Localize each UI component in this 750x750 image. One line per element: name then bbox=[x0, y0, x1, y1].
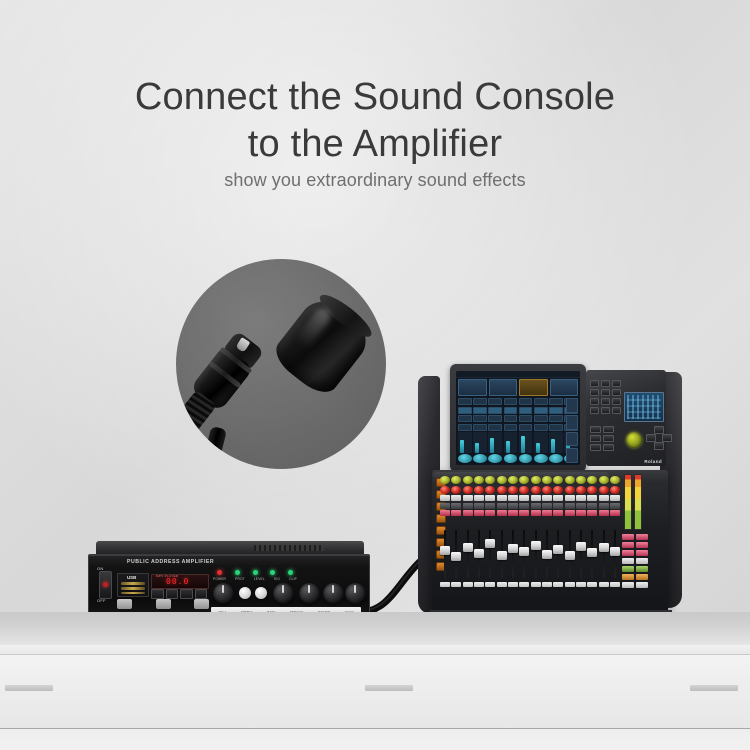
channel-mute-button[interactable] bbox=[440, 503, 450, 509]
channel-name-label bbox=[576, 582, 586, 587]
usb-label: USB bbox=[127, 575, 136, 580]
master-button[interactable] bbox=[636, 582, 648, 588]
console-lcd-screen[interactable] bbox=[624, 392, 664, 422]
knob-mp3-aux[interactable] bbox=[323, 583, 344, 604]
app-side-button[interactable] bbox=[566, 415, 578, 430]
app-channel-strip bbox=[534, 398, 548, 463]
dpad-up-button[interactable] bbox=[654, 426, 664, 434]
app-channel-fader[interactable] bbox=[519, 432, 533, 453]
channel-aux-knob[interactable] bbox=[565, 486, 575, 494]
channel-name-label bbox=[497, 582, 507, 587]
function-button[interactable] bbox=[601, 380, 610, 387]
app-channel-knob[interactable] bbox=[549, 454, 563, 463]
channel-aux-knob[interactable] bbox=[542, 486, 552, 494]
fader-cap[interactable] bbox=[542, 550, 552, 559]
channel-mute-button[interactable] bbox=[497, 503, 507, 509]
headline-line-1: Connect the Sound Console bbox=[0, 74, 750, 121]
channel-gain-knob[interactable] bbox=[497, 476, 507, 484]
channel-select-button[interactable] bbox=[599, 495, 609, 501]
channel-aux-knob[interactable] bbox=[508, 486, 518, 494]
function-button[interactable] bbox=[612, 398, 621, 405]
headline-line-2: to the Amplifier bbox=[0, 121, 750, 168]
app-channel-cell[interactable] bbox=[549, 398, 563, 405]
digital-mixing-console: Roland bbox=[418, 358, 678, 628]
function-button[interactable] bbox=[601, 407, 610, 414]
channel-mute-button[interactable] bbox=[451, 503, 461, 509]
app-channel-fader[interactable] bbox=[458, 432, 472, 453]
channel-gain-knob[interactable] bbox=[485, 476, 495, 484]
channel-mute-button[interactable] bbox=[576, 503, 586, 509]
channel-aux-knob[interactable] bbox=[576, 486, 586, 494]
channel-solo-button[interactable] bbox=[440, 510, 450, 516]
function-button[interactable] bbox=[601, 398, 610, 405]
channel-fader[interactable] bbox=[531, 530, 541, 582]
channel-mute-button[interactable] bbox=[531, 503, 541, 509]
app-channel-knob[interactable] bbox=[458, 454, 472, 463]
knob-master[interactable] bbox=[345, 583, 366, 604]
fader-cap[interactable] bbox=[565, 551, 575, 560]
channel-aux-knob[interactable] bbox=[610, 486, 620, 494]
app-channel-cell[interactable] bbox=[473, 398, 487, 405]
usb-port[interactable] bbox=[121, 582, 145, 585]
channel-select-button[interactable] bbox=[531, 495, 541, 501]
channel-fader[interactable] bbox=[599, 530, 609, 582]
page-subtitle: show you extraordinary sound effects bbox=[0, 170, 750, 191]
function-button[interactable] bbox=[612, 389, 621, 396]
channel-solo-button[interactable] bbox=[565, 510, 575, 516]
channel-aux-knob[interactable] bbox=[474, 486, 484, 494]
channel-select-button[interactable] bbox=[485, 495, 495, 501]
knob-row-yellow bbox=[440, 476, 620, 484]
channel-fader[interactable] bbox=[576, 530, 586, 582]
channel-fader[interactable] bbox=[440, 530, 450, 582]
channel-name-label bbox=[440, 582, 450, 587]
channel-name-label bbox=[519, 582, 529, 587]
app-channel-strip bbox=[488, 398, 502, 463]
usb-sd-slot-block[interactable]: USB bbox=[117, 573, 149, 597]
channel-solo-button[interactable] bbox=[508, 510, 518, 516]
mode-button[interactable] bbox=[603, 435, 614, 442]
tablet-device[interactable] bbox=[450, 364, 586, 472]
app-channel-cell[interactable] bbox=[473, 415, 487, 422]
channel-fader[interactable] bbox=[542, 530, 552, 582]
channel-fader[interactable] bbox=[553, 530, 563, 582]
channel-gain-knob[interactable] bbox=[587, 476, 597, 484]
app-channel-knob[interactable] bbox=[488, 454, 502, 463]
channel-select-button[interactable] bbox=[474, 495, 484, 501]
channel-name-label bbox=[553, 582, 563, 587]
bluetooth-icon bbox=[117, 599, 132, 609]
led-label-clip: CLIP bbox=[289, 577, 297, 581]
output-level-meters bbox=[624, 474, 642, 530]
function-button[interactable] bbox=[590, 407, 599, 414]
channel-gain-knob[interactable] bbox=[565, 476, 575, 484]
microphone-closeup-inset bbox=[176, 259, 386, 469]
app-channel-cell[interactable] bbox=[458, 407, 472, 414]
channel-select-button[interactable] bbox=[497, 495, 507, 501]
channel-gain-knob[interactable] bbox=[553, 476, 563, 484]
channel-name-label bbox=[599, 582, 609, 587]
channel-aux-knob[interactable] bbox=[497, 486, 507, 494]
dpad-left-button[interactable] bbox=[646, 434, 656, 442]
knob-mic-1[interactable] bbox=[213, 583, 234, 604]
function-button[interactable] bbox=[590, 389, 599, 396]
app-channel-cell[interactable] bbox=[549, 424, 563, 431]
fader-track bbox=[603, 530, 605, 578]
master-button[interactable] bbox=[622, 550, 634, 556]
mode-button[interactable] bbox=[590, 444, 601, 451]
channel-mute-button[interactable] bbox=[463, 503, 473, 509]
channel-gain-knob[interactable] bbox=[576, 476, 586, 484]
cursor-dpad bbox=[646, 426, 670, 450]
app-channel-knob[interactable] bbox=[473, 454, 487, 463]
master-button[interactable] bbox=[622, 558, 634, 564]
master-button[interactable] bbox=[622, 566, 634, 572]
power-switch[interactable] bbox=[99, 571, 112, 599]
cabinet bbox=[0, 654, 750, 750]
drawer-handle[interactable] bbox=[690, 685, 738, 691]
amplifier-icon-row bbox=[117, 599, 209, 609]
value-encoder-knob[interactable] bbox=[626, 432, 642, 448]
fader-track bbox=[535, 530, 537, 578]
usb-icon bbox=[156, 599, 171, 609]
promo-image: Connect the Sound Console to the Amplifi… bbox=[0, 0, 750, 750]
channel-fader-bank bbox=[440, 530, 620, 582]
channel-name-label bbox=[610, 582, 620, 587]
amplifier-vents bbox=[254, 545, 324, 551]
channel-mute-button[interactable] bbox=[587, 503, 597, 509]
drawer-right[interactable] bbox=[575, 654, 750, 729]
channel-solo-button[interactable] bbox=[599, 510, 609, 516]
app-channel-cell[interactable] bbox=[473, 407, 487, 414]
master-button[interactable] bbox=[636, 550, 648, 556]
app-fader-level bbox=[551, 439, 555, 453]
power-indicator-icon bbox=[103, 582, 108, 587]
channel-aux-knob[interactable] bbox=[587, 486, 597, 494]
fader-cap[interactable] bbox=[553, 545, 563, 554]
master-button[interactable] bbox=[636, 542, 648, 548]
app-channel-cell[interactable] bbox=[458, 398, 472, 405]
channel-name-label bbox=[451, 582, 461, 587]
app-channel-fader[interactable] bbox=[504, 432, 518, 453]
channel-solo-button[interactable] bbox=[463, 510, 473, 516]
master-button[interactable] bbox=[622, 534, 634, 540]
channel-select-button[interactable] bbox=[463, 495, 473, 501]
function-button[interactable] bbox=[612, 380, 621, 387]
channel-select-button[interactable] bbox=[553, 495, 563, 501]
app-channel-cell[interactable] bbox=[519, 407, 533, 414]
app-fader-level bbox=[536, 443, 540, 452]
channel-name-label bbox=[474, 582, 484, 587]
app-channel-cell[interactable] bbox=[458, 424, 472, 431]
channel-fader[interactable] bbox=[565, 530, 575, 582]
channel-name-label bbox=[542, 582, 552, 587]
app-fader-level bbox=[490, 438, 494, 452]
app-channel-strip bbox=[519, 398, 533, 463]
fader-cap[interactable] bbox=[497, 551, 507, 560]
channel-gain-knob[interactable] bbox=[542, 476, 552, 484]
channel-solo-button[interactable] bbox=[553, 510, 563, 516]
app-channel-cell[interactable] bbox=[549, 407, 563, 414]
fader-cap[interactable] bbox=[519, 547, 529, 556]
lcd-content bbox=[627, 395, 661, 419]
dpad-right-button[interactable] bbox=[662, 434, 672, 442]
amplifier-top-cover bbox=[96, 541, 364, 555]
app-channel-cell[interactable] bbox=[504, 415, 518, 422]
app-channel-knob[interactable] bbox=[519, 454, 533, 463]
channel-fader[interactable] bbox=[508, 530, 518, 582]
play-button[interactable] bbox=[166, 589, 179, 599]
app-side-button[interactable] bbox=[566, 448, 578, 463]
channel-solo-button[interactable] bbox=[519, 510, 529, 516]
channel-name-label bbox=[587, 582, 597, 587]
fader-track bbox=[580, 530, 582, 578]
channel-control-rows bbox=[440, 476, 620, 518]
channel-solo-button[interactable] bbox=[610, 510, 620, 516]
channel-aux-knob[interactable] bbox=[485, 486, 495, 494]
scene-block-active[interactable] bbox=[519, 379, 548, 396]
channel-solo-button[interactable] bbox=[497, 510, 507, 516]
channel-solo-button[interactable] bbox=[451, 510, 461, 516]
channel-select-button[interactable] bbox=[610, 495, 620, 501]
scene-block[interactable] bbox=[489, 379, 518, 396]
channel-gain-knob[interactable] bbox=[610, 476, 620, 484]
knob-row-red bbox=[440, 486, 620, 494]
app-channel-cell[interactable] bbox=[534, 398, 548, 405]
display-value: 00.0 bbox=[166, 577, 189, 586]
app-channel-knob[interactable] bbox=[504, 454, 518, 463]
transport-button-row bbox=[151, 589, 207, 599]
channel-aux-knob[interactable] bbox=[553, 486, 563, 494]
channel-mute-button[interactable] bbox=[542, 503, 552, 509]
app-channel-cell[interactable] bbox=[519, 415, 533, 422]
channel-solo-button[interactable] bbox=[485, 510, 495, 516]
channel-gain-knob[interactable] bbox=[474, 476, 484, 484]
white-button-1[interactable] bbox=[239, 587, 251, 599]
app-channel-fader[interactable] bbox=[534, 432, 548, 453]
function-button[interactable] bbox=[601, 389, 610, 396]
app-channel-cell[interactable] bbox=[519, 424, 533, 431]
app-channel-cell[interactable] bbox=[488, 415, 502, 422]
channel-solo-button[interactable] bbox=[474, 510, 484, 516]
channel-select-button[interactable] bbox=[519, 495, 529, 501]
scene-block[interactable] bbox=[550, 379, 579, 396]
channel-select-button[interactable] bbox=[576, 495, 586, 501]
channel-name-label bbox=[565, 582, 575, 587]
master-button[interactable] bbox=[636, 558, 648, 564]
channel-aux-knob[interactable] bbox=[440, 486, 450, 494]
master-button[interactable] bbox=[636, 574, 648, 580]
secondary-button-grid bbox=[590, 426, 614, 451]
fader-cap[interactable] bbox=[587, 548, 597, 557]
app-channel-strip bbox=[458, 398, 472, 463]
white-button-2[interactable] bbox=[255, 587, 267, 599]
prev-button[interactable] bbox=[151, 589, 164, 599]
mode-button[interactable] bbox=[603, 426, 614, 433]
drawer-handle[interactable] bbox=[365, 685, 413, 691]
drawer-handle[interactable] bbox=[5, 685, 53, 691]
channel-mute-button[interactable] bbox=[565, 503, 575, 509]
fader-cap[interactable] bbox=[474, 549, 484, 558]
channel-fader[interactable] bbox=[485, 530, 495, 582]
level-meter-right bbox=[634, 474, 642, 530]
channel-select-button[interactable] bbox=[440, 495, 450, 501]
button-row-pink bbox=[440, 510, 620, 516]
master-button[interactable] bbox=[636, 566, 648, 572]
master-button[interactable] bbox=[622, 542, 634, 548]
fader-cap[interactable] bbox=[610, 547, 620, 556]
channel-fader[interactable] bbox=[497, 530, 507, 582]
app-channel-cell[interactable] bbox=[504, 424, 518, 431]
drawer-center[interactable] bbox=[205, 654, 576, 729]
button-row-gray bbox=[440, 503, 620, 509]
channel-fader[interactable] bbox=[463, 530, 473, 582]
channel-select-button[interactable] bbox=[565, 495, 575, 501]
led-label-sig: SIG bbox=[274, 577, 280, 581]
channel-aux-knob[interactable] bbox=[451, 486, 461, 494]
tablet-screen[interactable] bbox=[456, 371, 580, 465]
function-button[interactable] bbox=[612, 407, 621, 414]
app-channel-cell[interactable] bbox=[534, 415, 548, 422]
cabinet-base bbox=[0, 729, 750, 750]
channel-mute-button[interactable] bbox=[485, 503, 495, 509]
fader-cap[interactable] bbox=[531, 541, 541, 550]
app-side-buttons bbox=[566, 398, 578, 463]
app-channel-cell[interactable] bbox=[534, 424, 548, 431]
mp3-led-display: MP3 PLAYER 00.0 bbox=[151, 574, 209, 589]
app-channel-cell[interactable] bbox=[473, 424, 487, 431]
master-button-bay bbox=[622, 534, 648, 588]
mode-button[interactable] bbox=[603, 444, 614, 451]
app-side-button[interactable] bbox=[566, 398, 578, 413]
aux-slot[interactable] bbox=[121, 592, 145, 594]
channel-gain-knob[interactable] bbox=[531, 476, 541, 484]
led-prot bbox=[235, 570, 240, 575]
app-channel-strips bbox=[458, 398, 578, 463]
mode-button[interactable] bbox=[590, 426, 601, 433]
app-top-bar bbox=[456, 371, 580, 378]
app-channel-strip bbox=[549, 398, 563, 463]
master-button[interactable] bbox=[622, 582, 634, 588]
app-channel-cell[interactable] bbox=[504, 407, 518, 414]
master-button[interactable] bbox=[622, 574, 634, 580]
channel-select-button[interactable] bbox=[451, 495, 461, 501]
function-button-grid bbox=[590, 380, 621, 414]
table-surface bbox=[0, 612, 750, 648]
app-channel-fader[interactable] bbox=[473, 432, 487, 453]
app-channel-cell[interactable] bbox=[488, 424, 502, 431]
channel-mute-button[interactable] bbox=[610, 503, 620, 509]
function-button[interactable] bbox=[590, 380, 599, 387]
fader-cap[interactable] bbox=[463, 543, 473, 552]
channel-name-label bbox=[531, 582, 541, 587]
channel-name-label bbox=[463, 582, 473, 587]
led-label-prot: PROT bbox=[235, 577, 245, 581]
function-button[interactable] bbox=[590, 398, 599, 405]
scene-block[interactable] bbox=[458, 379, 487, 396]
channel-gain-knob[interactable] bbox=[599, 476, 609, 484]
fader-track bbox=[557, 530, 559, 578]
channel-select-button[interactable] bbox=[587, 495, 597, 501]
power-off-label: OFF bbox=[97, 598, 106, 603]
app-channel-fader[interactable] bbox=[549, 432, 563, 453]
app-channel-cell[interactable] bbox=[534, 407, 548, 414]
knob-bass[interactable] bbox=[299, 583, 320, 604]
mode-button[interactable] bbox=[590, 435, 601, 442]
channel-gain-knob[interactable] bbox=[508, 476, 518, 484]
master-button[interactable] bbox=[636, 534, 648, 540]
channel-select-button[interactable] bbox=[508, 495, 518, 501]
channel-gain-knob[interactable] bbox=[440, 476, 450, 484]
level-meter-left bbox=[624, 474, 632, 530]
sd-card-slot[interactable] bbox=[121, 587, 145, 590]
channel-solo-button[interactable] bbox=[587, 510, 597, 516]
channel-fader[interactable] bbox=[610, 530, 620, 582]
mode-button[interactable] bbox=[195, 589, 208, 599]
led-label-power: POWER bbox=[213, 577, 226, 581]
next-button[interactable] bbox=[180, 589, 193, 599]
channel-fader[interactable] bbox=[519, 530, 529, 582]
app-channel-fader[interactable] bbox=[488, 432, 502, 453]
channel-select-button[interactable] bbox=[542, 495, 552, 501]
channel-gain-knob[interactable] bbox=[451, 476, 461, 484]
channel-fader[interactable] bbox=[587, 530, 597, 582]
fader-cap[interactable] bbox=[485, 539, 495, 548]
fader-cap[interactable] bbox=[508, 544, 518, 553]
channel-solo-button[interactable] bbox=[531, 510, 541, 516]
app-side-button[interactable] bbox=[566, 432, 578, 447]
fader-cap[interactable] bbox=[451, 552, 461, 561]
app-channel-cell[interactable] bbox=[519, 398, 533, 405]
app-channel-cell[interactable] bbox=[504, 398, 518, 405]
fader-cap[interactable] bbox=[599, 543, 609, 552]
channel-gain-knob[interactable] bbox=[519, 476, 529, 484]
fader-cap[interactable] bbox=[440, 546, 450, 555]
channel-solo-button[interactable] bbox=[542, 510, 552, 516]
drawer-left[interactable] bbox=[0, 654, 206, 729]
knob-treble[interactable] bbox=[273, 583, 294, 604]
channel-mute-button[interactable] bbox=[508, 503, 518, 509]
app-channel-cell[interactable] bbox=[488, 398, 502, 405]
channel-aux-knob[interactable] bbox=[599, 486, 609, 494]
app-fader-level bbox=[460, 440, 464, 453]
channel-fader[interactable] bbox=[474, 530, 484, 582]
channel-aux-knob[interactable] bbox=[463, 486, 473, 494]
app-scene-row bbox=[458, 379, 578, 396]
channel-mute-button[interactable] bbox=[599, 503, 609, 509]
app-fader-level bbox=[506, 441, 510, 452]
channel-solo-button[interactable] bbox=[576, 510, 586, 516]
channel-gain-knob[interactable] bbox=[463, 476, 473, 484]
dpad-down-button[interactable] bbox=[654, 442, 664, 450]
channel-aux-knob[interactable] bbox=[519, 486, 529, 494]
amplifier-knob-row bbox=[213, 583, 363, 607]
channel-mute-button[interactable] bbox=[519, 503, 529, 509]
channel-mute-button[interactable] bbox=[474, 503, 484, 509]
app-channel-cell[interactable] bbox=[549, 415, 563, 422]
app-channel-cell[interactable] bbox=[488, 407, 502, 414]
app-channel-knob[interactable] bbox=[534, 454, 548, 463]
fader-track bbox=[489, 530, 491, 578]
app-channel-cell[interactable] bbox=[458, 415, 472, 422]
channel-label-strip bbox=[440, 582, 620, 587]
fader-cap[interactable] bbox=[576, 542, 586, 551]
channel-mute-button[interactable] bbox=[553, 503, 563, 509]
brand-label: Roland bbox=[644, 459, 662, 464]
channel-aux-knob[interactable] bbox=[531, 486, 541, 494]
amplifier-front-panel: PUBLIC ADDRESS AMPLIFIER ON OFF USB MP3 … bbox=[88, 554, 370, 620]
channel-fader[interactable] bbox=[451, 530, 461, 582]
